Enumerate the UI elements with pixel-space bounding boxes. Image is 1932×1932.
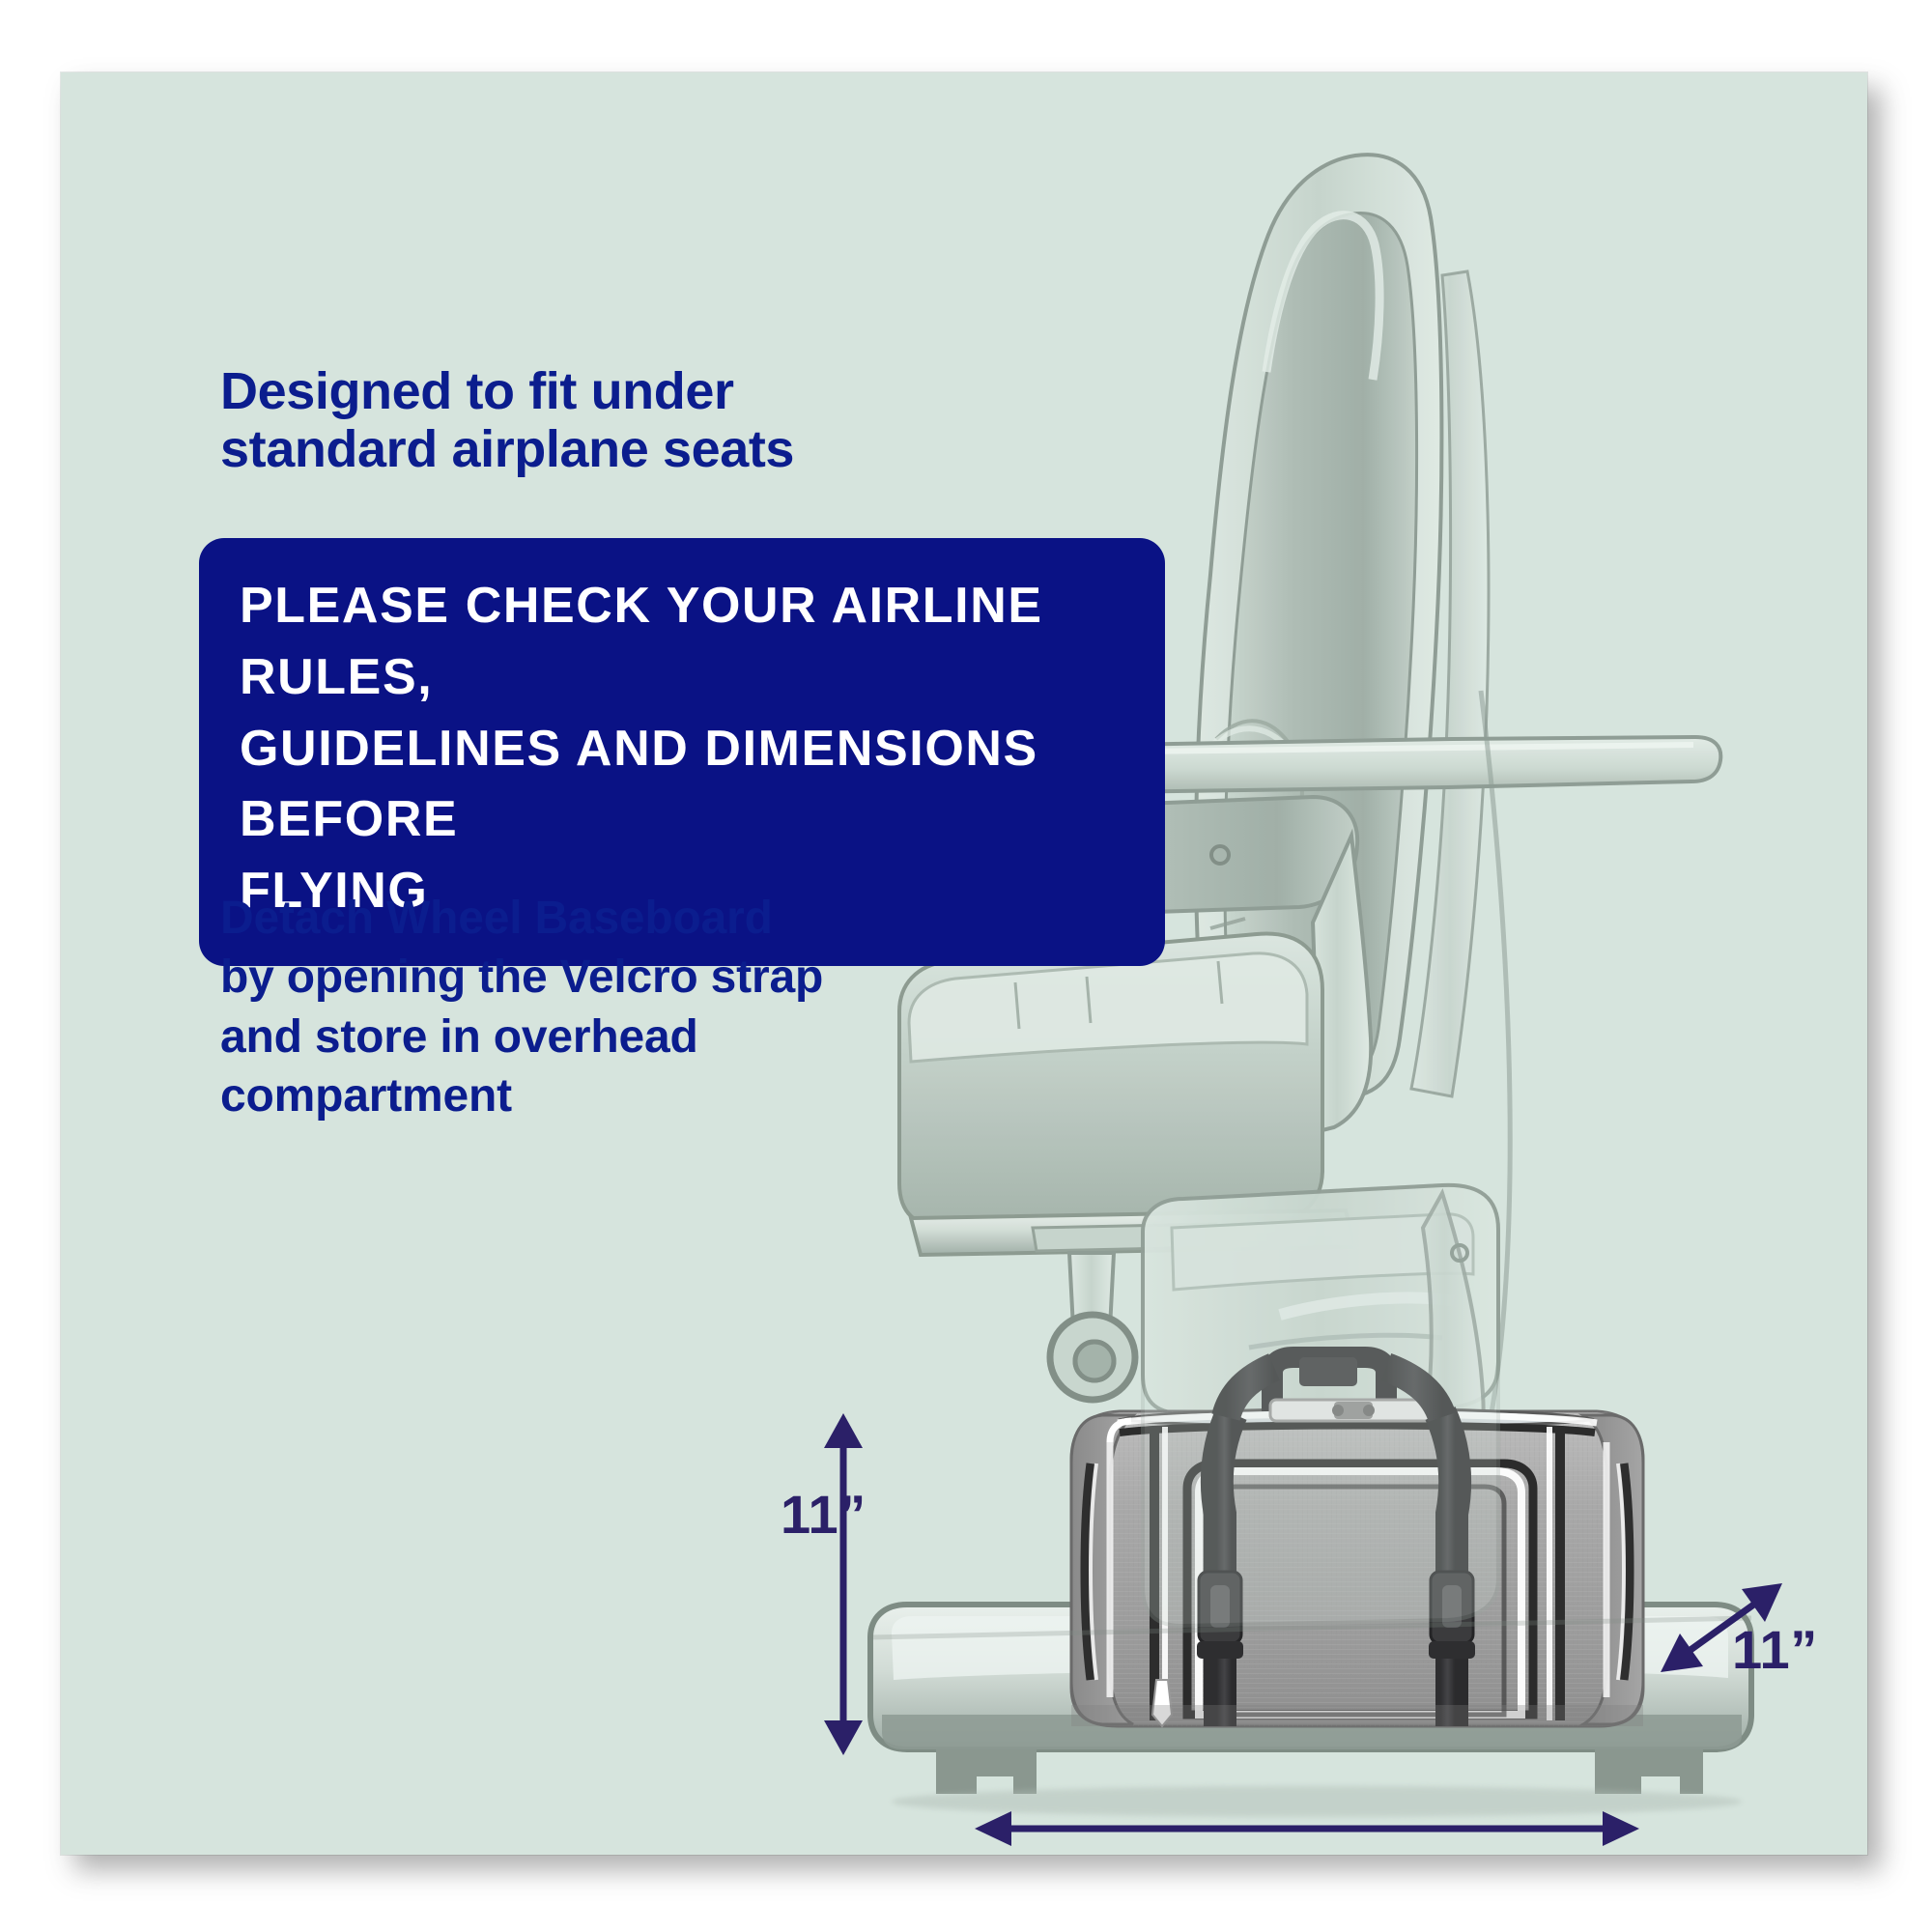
page-title-line2: standard airplane seats [220,420,916,478]
screenshot-root: Designed to fit under standard airplane … [0,0,1932,1932]
instructions-line3: and store in overhead [220,1008,974,1066]
banner-line2: GUIDELINES AND DIMENSIONS BEFORE [240,714,1126,857]
instructions-line2: by opening the Velcro strap [220,948,974,1007]
instructions-text: Detach Wheel Baseboard by opening the Ve… [220,889,974,1126]
instructions-line1: Detach Wheel Baseboard [220,889,974,948]
page-title: Designed to fit under standard airplane … [220,362,916,479]
dimension-depth-label: 11” [1732,1623,1818,1677]
info-panel: Designed to fit under standard airplane … [61,72,1867,1855]
banner-line1: PLEASE CHECK YOUR AIRLINE RULES, [240,571,1126,714]
instructions-line4: compartment [220,1066,974,1125]
page-title-line1: Designed to fit under [220,362,916,420]
dimension-height-label: 11” [781,1488,867,1542]
